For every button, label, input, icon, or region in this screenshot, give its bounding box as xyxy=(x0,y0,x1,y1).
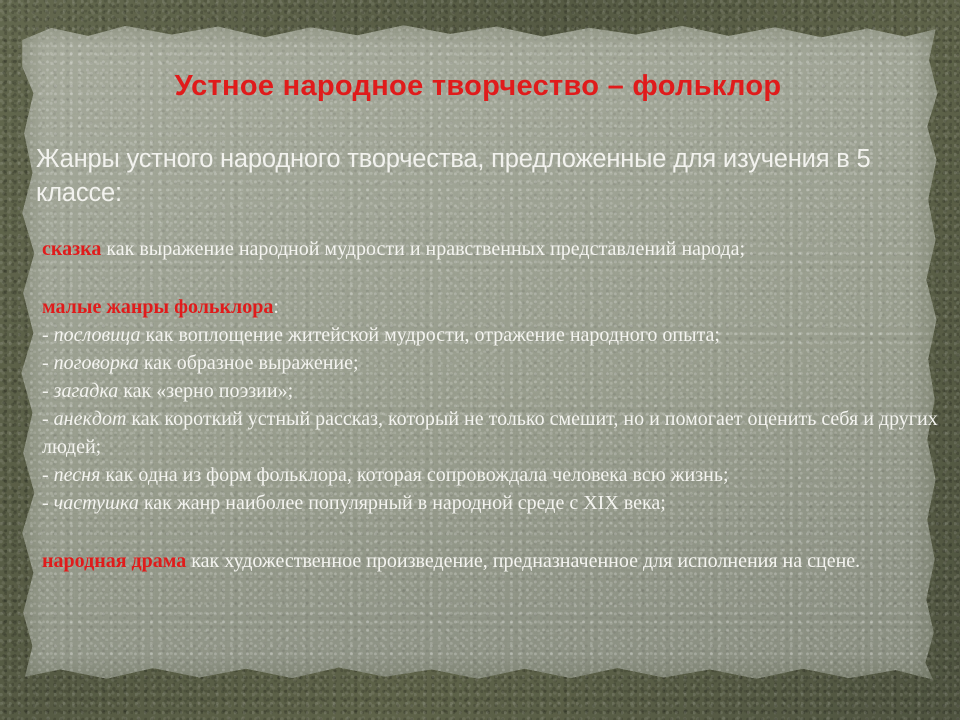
list-item: - пословица как воплощение житейской муд… xyxy=(42,321,947,349)
list-dash: - xyxy=(42,408,54,430)
term-pesnya: песня xyxy=(54,464,101,486)
presentation-slide: Устное народное творчество – фольклор Жа… xyxy=(0,0,960,720)
term-pogovorka: поговорка xyxy=(54,352,139,374)
term-skazka: сказка xyxy=(42,238,101,260)
term-small-genres: малые жанры фольклора xyxy=(42,296,273,318)
term-anekdot: анекдот xyxy=(54,408,127,430)
list-item: - песня как одна из форм фольклора, кото… xyxy=(42,461,947,489)
slide-subtitle: Жанры устного народного творчества, пред… xyxy=(36,142,936,210)
text-narodnaya-drama-description: как художественное произведение, предназ… xyxy=(186,550,860,572)
list-dash: - xyxy=(42,492,54,514)
list-dash: - xyxy=(42,464,54,486)
list-dash: - xyxy=(42,324,54,346)
text-skazka-description: как выражение народной мудрости и нравст… xyxy=(101,238,745,260)
term-zagadka: загадка xyxy=(54,380,119,402)
paragraph-narodnaya-drama: народная драма как художественное произв… xyxy=(42,547,947,575)
list-item: - поговорка как образное выражение; xyxy=(42,349,947,377)
slide-body: сказка как выражение народной мудрости и… xyxy=(42,235,947,575)
heading-small-genres: малые жанры фольклора: xyxy=(42,293,947,321)
list-item: - загадка как «зерно поэзии»; xyxy=(42,377,947,405)
text-small-genres-colon: : xyxy=(273,296,279,318)
text-chastushka-description: как жанр наиболее популярный в народной … xyxy=(139,492,666,514)
term-poslovitsa: пословица xyxy=(54,324,141,346)
list-dash: - xyxy=(42,380,54,402)
text-pesnya-description: как одна из форм фольклора, которая сопр… xyxy=(100,464,728,486)
text-anekdot-description: как короткий устный рассказ, который не … xyxy=(42,408,938,458)
term-chastushka: частушка xyxy=(54,492,139,514)
slide-content: Устное народное творчество – фольклор Жа… xyxy=(14,20,942,686)
slide-title: Устное народное творчество – фольклор xyxy=(14,70,942,103)
list-item: - анекдот как короткий устный рассказ, к… xyxy=(42,405,947,461)
text-pogovorka-description: как образное выражение; xyxy=(139,352,359,374)
term-narodnaya-drama: народная драма xyxy=(42,550,186,572)
text-poslovitsa-description: как воплощение житейской мудрости, отраж… xyxy=(140,324,720,346)
text-zagadka-description: как «зерно поэзии»; xyxy=(118,380,293,402)
list-item: - частушка как жанр наиболее популярный … xyxy=(42,489,947,517)
list-dash: - xyxy=(42,352,54,374)
paragraph-skazka: сказка как выражение народной мудрости и… xyxy=(42,235,947,263)
